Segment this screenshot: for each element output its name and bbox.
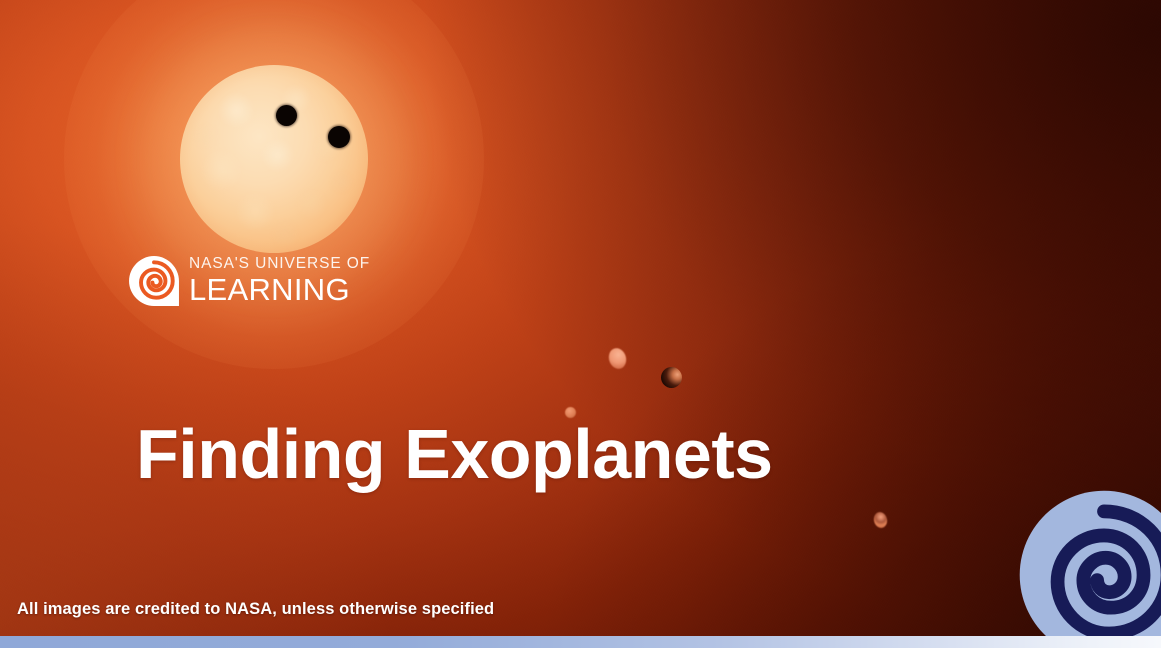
nasa-universe-of-learning-logo: NASA'S UNIVERSE OF LEARNING <box>128 255 370 307</box>
star-limb-darkening <box>180 65 368 253</box>
page-title: Finding Exoplanets <box>136 414 773 494</box>
bottom-accent-strip <box>0 636 1161 648</box>
logo-line-2: LEARNING <box>189 274 370 305</box>
logo-line-1: NASA'S UNIVERSE OF <box>189 256 370 272</box>
corner-spiral-badge <box>1018 489 1161 648</box>
host-star <box>180 65 368 253</box>
spiral-swirl-icon <box>128 255 180 307</box>
logo-wordmark: NASA'S UNIVERSE OF LEARNING <box>189 256 370 308</box>
presentation-slide: NASA'S UNIVERSE OF LEARNING Finding Exop… <box>0 0 1161 648</box>
transiting-planet-1 <box>276 105 297 126</box>
background-grain-texture <box>0 0 1161 648</box>
transiting-planet-2 <box>328 126 350 148</box>
image-credit-text: All images are credited to NASA, unless … <box>17 600 494 619</box>
planet-dark-right <box>661 367 682 388</box>
